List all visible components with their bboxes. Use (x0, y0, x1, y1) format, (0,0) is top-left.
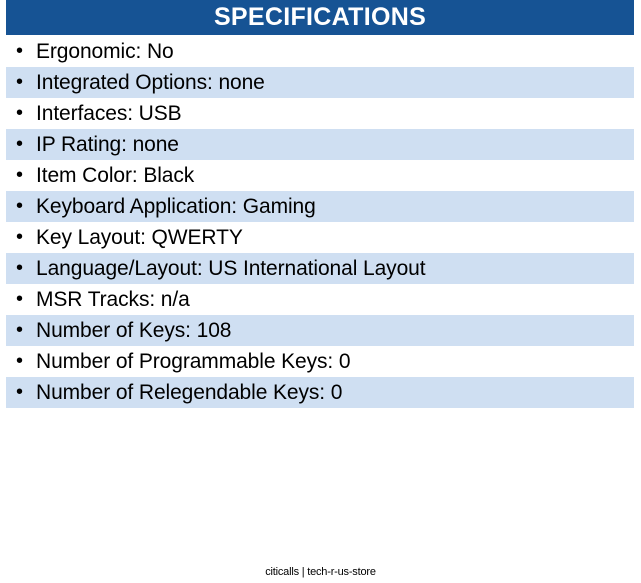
spec-row: •Ergonomic: No (6, 36, 634, 67)
spec-row-text: Ergonomic: No (36, 41, 634, 62)
page-title: SPECIFICATIONS (214, 5, 426, 30)
spec-row-text: MSR Tracks: n/a (36, 289, 634, 310)
bullet-icon: • (16, 72, 36, 94)
spec-row-text: Language/Layout: US International Layout (36, 258, 634, 279)
spec-row: •MSR Tracks: n/a (6, 284, 634, 315)
spec-row-text: Number of Programmable Keys: 0 (36, 351, 634, 372)
bullet-icon: • (16, 227, 36, 249)
bullet-icon: • (16, 382, 36, 404)
bullet-icon: • (16, 134, 36, 156)
footer: citicalls | tech-r-us-store (0, 562, 641, 580)
spec-row-text: Number of Keys: 108 (36, 320, 634, 341)
bullet-icon: • (16, 351, 36, 373)
bullet-icon: • (16, 103, 36, 125)
bullet-icon: • (16, 258, 36, 280)
spec-row: •IP Rating: none (6, 129, 634, 160)
spec-row: •Number of Programmable Keys: 0 (6, 346, 634, 377)
spec-row: •Language/Layout: US International Layou… (6, 253, 634, 284)
specifications-header-banner: SPECIFICATIONS (6, 0, 634, 35)
spec-row: •Interfaces: USB (6, 98, 634, 129)
spec-row-text: Item Color: Black (36, 165, 634, 186)
specifications-list: •Ergonomic: No•Integrated Options: none•… (6, 36, 634, 408)
spec-row: •Number of Keys: 108 (6, 315, 634, 346)
spec-row-text: Key Layout: QWERTY (36, 227, 634, 248)
bullet-icon: • (16, 196, 36, 218)
spec-row-text: IP Rating: none (36, 134, 634, 155)
specifications-sheet: SPECIFICATIONS •Ergonomic: No•Integrated… (0, 0, 641, 583)
bullet-icon: • (16, 41, 36, 63)
spec-row: •Keyboard Application: Gaming (6, 191, 634, 222)
spec-row-text: Integrated Options: none (36, 72, 634, 93)
spec-row: •Key Layout: QWERTY (6, 222, 634, 253)
bullet-icon: • (16, 320, 36, 342)
spec-row-text: Number of Relegendable Keys: 0 (36, 382, 634, 403)
spec-row: •Number of Relegendable Keys: 0 (6, 377, 634, 408)
footer-store-credit: citicalls | tech-r-us-store (265, 566, 376, 578)
spec-row: •Integrated Options: none (6, 67, 634, 98)
spec-row-text: Interfaces: USB (36, 103, 634, 124)
bullet-icon: • (16, 165, 36, 187)
spec-row-text: Keyboard Application: Gaming (36, 196, 634, 217)
spec-row: •Item Color: Black (6, 160, 634, 191)
bullet-icon: • (16, 289, 36, 311)
